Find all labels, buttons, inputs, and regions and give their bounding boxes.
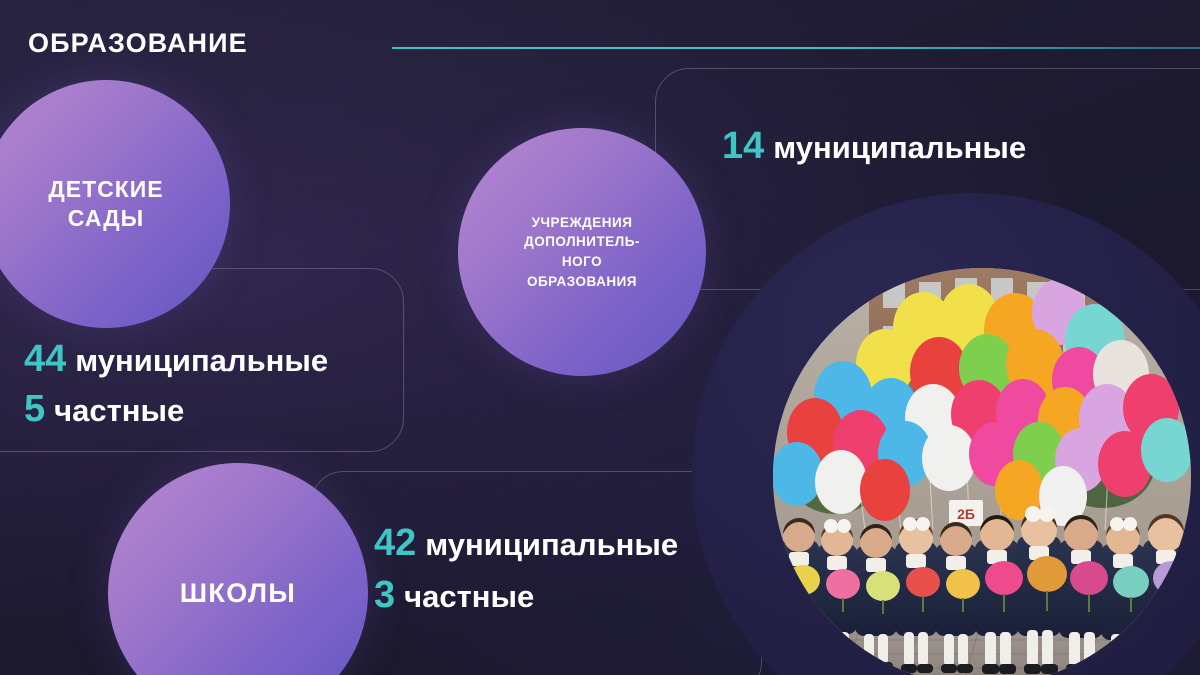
title-accent-rule: [392, 47, 1200, 49]
stat-row: 44 муниципальные: [24, 338, 328, 381]
stats-schools: 42 муниципальные 3 частные: [374, 522, 678, 626]
stat-unit: муниципальные: [75, 343, 328, 379]
stat-unit: частные: [54, 393, 184, 429]
stats-kindergarten: 44 муниципальные 5 частные: [24, 338, 328, 438]
stat-unit: муниципальные: [773, 130, 1026, 166]
bubble-schools-label: ШКОЛЫ: [168, 578, 308, 609]
bubble-extra-label-line3: НОГО: [562, 254, 602, 269]
bubble-extra-label-line4: ОБРАЗОВАНИЯ: [527, 274, 637, 289]
bubble-extra-education: УЧРЕЖДЕНИЯ ДОПОЛНИТЕЛЬ- НОГО ОБРАЗОВАНИЯ: [458, 128, 706, 376]
stat-value: 44: [24, 338, 66, 381]
stat-value: 3: [374, 574, 395, 617]
stat-row: 3 частные: [374, 574, 678, 617]
stat-unit: частные: [404, 579, 534, 615]
stat-row: 5 частные: [24, 388, 328, 431]
stat-value: 5: [24, 388, 45, 431]
stat-value: 42: [374, 522, 416, 565]
page-title: ОБРАЗОВАНИЕ: [28, 28, 248, 59]
stat-row: 14 муниципальные: [722, 125, 1026, 168]
bubble-kindergarten-label-line2: САДЫ: [68, 205, 144, 231]
bubble-extra-label-line1: УЧРЕЖДЕНИЯ: [532, 215, 633, 230]
svg-text:2Б: 2Б: [957, 506, 975, 522]
bubble-kindergarten-label: ДЕТСКИЕ САДЫ: [36, 175, 175, 234]
stat-value: 14: [722, 125, 764, 168]
bubble-extra-label-line2: ДОПОЛНИТЕЛЬ-: [524, 234, 640, 249]
photo-schoolchildren: 2Б: [773, 268, 1191, 675]
stat-unit: муниципальные: [425, 527, 678, 563]
bubble-kindergarten-label-line1: ДЕТСКИЕ: [48, 176, 163, 202]
stats-extra-education: 14 муниципальные: [722, 125, 1026, 168]
education-infographic-slide: ОБРАЗОВАНИЕ ДЕТСКИЕ САДЫ УЧРЕЖДЕНИЯ ДОПО…: [0, 0, 1200, 675]
stat-row: 42 муниципальные: [374, 522, 678, 565]
bubble-extra-education-label: УЧРЕЖДЕНИЯ ДОПОЛНИТЕЛЬ- НОГО ОБРАЗОВАНИЯ: [512, 213, 652, 291]
